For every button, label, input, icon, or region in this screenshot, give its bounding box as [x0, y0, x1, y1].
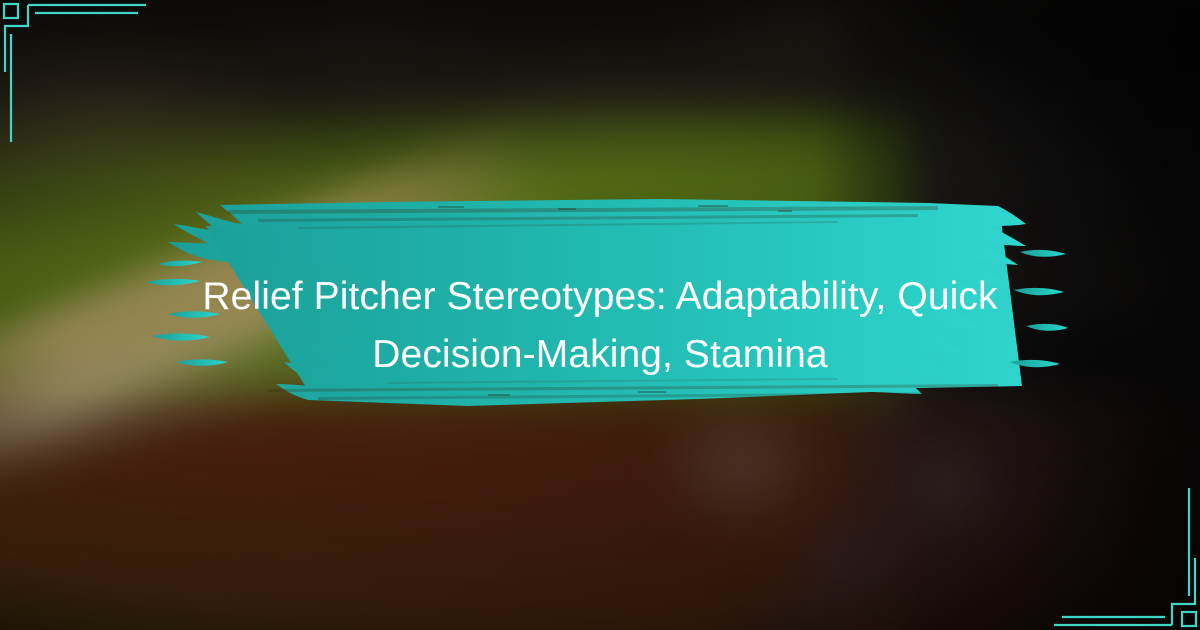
page-title-text: Relief Pitcher Stereotypes: Adaptability… — [202, 275, 997, 376]
social-card-canvas: Relief Pitcher Stereotypes: Adaptability… — [0, 0, 1200, 630]
page-title: Relief Pitcher Stereotypes: Adaptability… — [180, 268, 1020, 384]
